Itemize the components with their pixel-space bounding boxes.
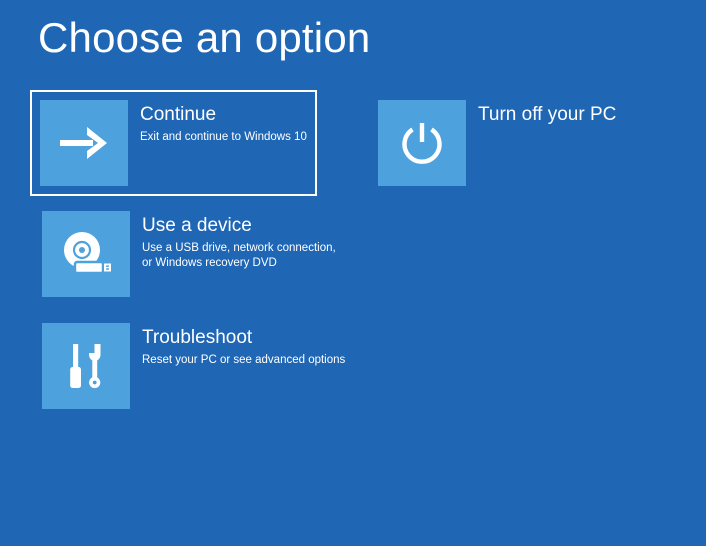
- option-description-troubleshoot: Reset your PC or see advanced options: [142, 353, 345, 368]
- option-tile-troubleshoot[interactable]: Troubleshoot Reset your PC or see advanc…: [42, 323, 345, 409]
- use-a-device-text-block: Use a device Use a USB drive, network co…: [142, 211, 336, 271]
- power-icon: [396, 117, 448, 169]
- option-tile-turn-off-your-pc[interactable]: Turn off your PC: [378, 100, 616, 186]
- option-description-continue: Exit and continue to Windows 10: [140, 130, 307, 145]
- option-description-line-1: Use a USB drive, network connection,: [142, 241, 336, 256]
- screwdriver-wrench-icon: [63, 341, 109, 391]
- troubleshoot-icon-plate: [42, 323, 130, 409]
- disc-usb-icon: [57, 228, 115, 280]
- continue-text-block: Continue Exit and continue to Windows 10: [140, 100, 307, 145]
- page-title: Choose an option: [38, 10, 370, 66]
- option-description-use-a-device: Use a USB drive, network connection, or …: [142, 241, 336, 271]
- turn-off-icon-plate: [378, 100, 466, 186]
- option-description-line-2: or Windows recovery DVD: [142, 256, 336, 271]
- option-tile-continue[interactable]: Continue Exit and continue to Windows 10: [32, 92, 315, 194]
- option-label-continue: Continue: [140, 102, 307, 127]
- use-a-device-icon-plate: [42, 211, 130, 297]
- option-label-troubleshoot: Troubleshoot: [142, 325, 345, 350]
- troubleshoot-text-block: Troubleshoot Reset your PC or see advanc…: [142, 323, 345, 368]
- continue-icon-plate: [40, 100, 128, 186]
- arrow-right-icon: [58, 123, 110, 163]
- option-label-use-a-device: Use a device: [142, 213, 336, 238]
- option-label-turn-off-your-pc: Turn off your PC: [478, 102, 616, 127]
- choose-an-option-screen: Choose an option Continue Exit and conti…: [0, 0, 706, 546]
- option-tile-use-a-device[interactable]: Use a device Use a USB drive, network co…: [42, 211, 336, 297]
- turn-off-text-block: Turn off your PC: [478, 100, 616, 127]
